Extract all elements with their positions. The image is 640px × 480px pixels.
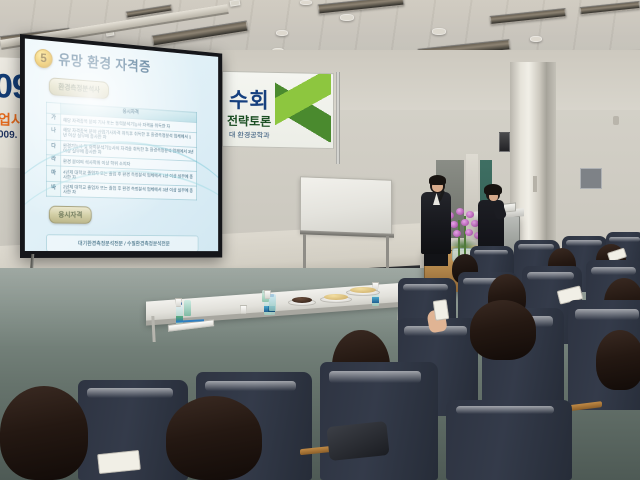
seat-highlight: [566, 240, 602, 246]
moderator-hair: [484, 184, 502, 195]
banner-chevron-logo-icon: [275, 71, 331, 142]
orchid-bloom: [453, 230, 461, 237]
presenter-hair: [429, 175, 446, 185]
slide-button-top: 환경측정분석사: [49, 77, 109, 99]
slide-title: 유망 환경 자격증: [58, 50, 150, 77]
audience-member-hair: [0, 386, 88, 480]
wall-hook: [533, 176, 537, 192]
food-item-dark: [292, 297, 312, 303]
ceiling-speaker-icon: [340, 14, 354, 21]
bottle-label: [372, 297, 379, 303]
audience-member-hair: [596, 330, 640, 390]
flower-stem: [458, 220, 460, 256]
ceiling-speaker-icon: [300, 0, 312, 5]
ceiling-speaker-icon: [432, 28, 446, 35]
seat-highlight: [609, 237, 640, 243]
food-item-light: [324, 294, 348, 300]
event-banner: 수회 전략토론 대 환경공학과: [222, 71, 334, 149]
ceiling-speaker-icon: [276, 30, 288, 36]
wall-sensor-icon: [613, 116, 619, 125]
seat-highlight: [87, 388, 173, 398]
food-item-light: [350, 287, 376, 293]
slide-header: 5 유망 환경 자격증: [35, 47, 151, 76]
audience-member-hair: [470, 300, 536, 360]
orchid-bloom: [456, 208, 464, 215]
seat-highlight: [403, 284, 448, 291]
ceiling-speaker-icon: [530, 36, 542, 42]
projection-screen-surface: 5 유망 환경 자격증 환경측정분석사 응시자격 가 해당 자격종목 분야 기사…: [25, 38, 218, 251]
held-paper: [433, 299, 450, 321]
water-bottle-green: [184, 300, 191, 316]
seat-back: [446, 400, 572, 480]
seat-highlight: [474, 250, 508, 255]
slide-number-badge: 5: [35, 48, 53, 68]
wall-control-panel: [580, 168, 602, 189]
wall-speaker-icon: [499, 132, 510, 152]
seat-highlight: [575, 309, 639, 320]
slide-row-key: 나: [46, 124, 60, 140]
projection-screen: 5 유망 환경 자격증 환경측정분석사 응시자격 가 해당 자격종목 분야 기사…: [20, 34, 222, 258]
handbag: [326, 421, 389, 461]
whiteboard: [300, 176, 392, 236]
auditorium-seat: [446, 400, 572, 480]
orchid-bloom: [465, 229, 473, 236]
seat-highlight: [329, 371, 421, 383]
photo-scene: 09 업시 009. 11. 수회 전략토론 대 환경공학과 5 유망 환경 자…: [0, 0, 640, 480]
audience-member-hair: [166, 396, 262, 480]
banner-subtitle: 전략토론: [227, 112, 271, 130]
seat-highlight: [591, 267, 636, 275]
seat-highlight: [527, 272, 574, 280]
banner-footer: 대 환경공학과: [229, 130, 270, 141]
seat-highlight: [518, 244, 554, 249]
orchid-bloom: [466, 211, 474, 218]
banner-pole: [336, 72, 340, 164]
orchid-bloom: [461, 219, 469, 226]
slide-row-key: 가: [46, 113, 60, 125]
banner-title: 수회: [229, 84, 270, 115]
seat-highlight: [456, 406, 554, 414]
seat-highlight: [205, 381, 295, 392]
orchid-bloom: [450, 221, 458, 228]
